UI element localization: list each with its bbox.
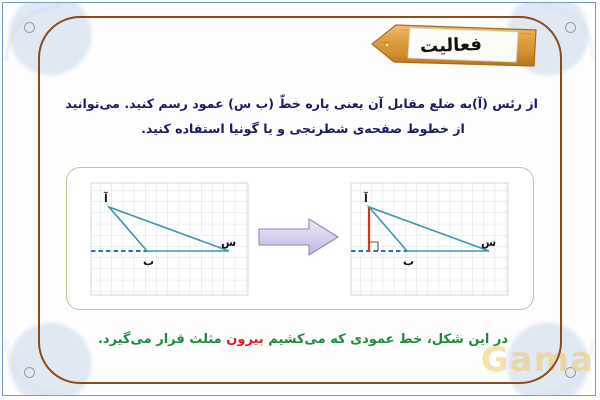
vertex-label-s-right: س xyxy=(481,236,496,249)
slide-root: Gama فعالیت از xyxy=(0,0,600,400)
instruction-line-2: از خطوط صفحه‌ی شطرنجی و یا گونیا استفاده… xyxy=(68,117,538,142)
transition-arrow-icon xyxy=(257,216,341,258)
corner-dot-bottom-right-icon xyxy=(565,367,576,378)
vertex-label-b-left: ب xyxy=(143,255,154,268)
instruction-line-1: از رئس (آ)به ضلع مقابل آن یعنی پاره خطّ … xyxy=(68,92,538,117)
activity-banner: فعالیت xyxy=(370,22,538,69)
vertex-label-b-right: ب xyxy=(403,255,414,268)
activity-banner-label: فعالیت xyxy=(369,19,539,72)
corner-dot-bottom-left-icon xyxy=(24,367,35,378)
vertex-label-s-left: س xyxy=(221,236,236,249)
vertex-label-a-left: آ xyxy=(103,191,108,205)
figure-after-diagram: آ ب س xyxy=(349,179,513,299)
conclusion-text: در این شکل، خط عمودی که می‌کشیم بیرون مث… xyxy=(68,330,538,351)
conclusion-part-1: در این شکل، خط عمودی که می‌کشیم xyxy=(264,332,508,347)
figure-before-diagram: آ ب س xyxy=(89,179,253,299)
instruction-text: از رئس (آ)به ضلع مقابل آن یعنی پاره خطّ … xyxy=(68,92,538,141)
conclusion-highlight: بیرون xyxy=(226,332,263,347)
vertex-label-a-right: آ xyxy=(363,191,368,205)
corner-dot-top-right-icon xyxy=(565,22,576,33)
figure-panel: آ ب س xyxy=(66,167,534,310)
corner-dot-top-left-icon xyxy=(24,22,35,33)
conclusion-part-2: مثلث قرار می‌گیرد. xyxy=(98,332,226,347)
